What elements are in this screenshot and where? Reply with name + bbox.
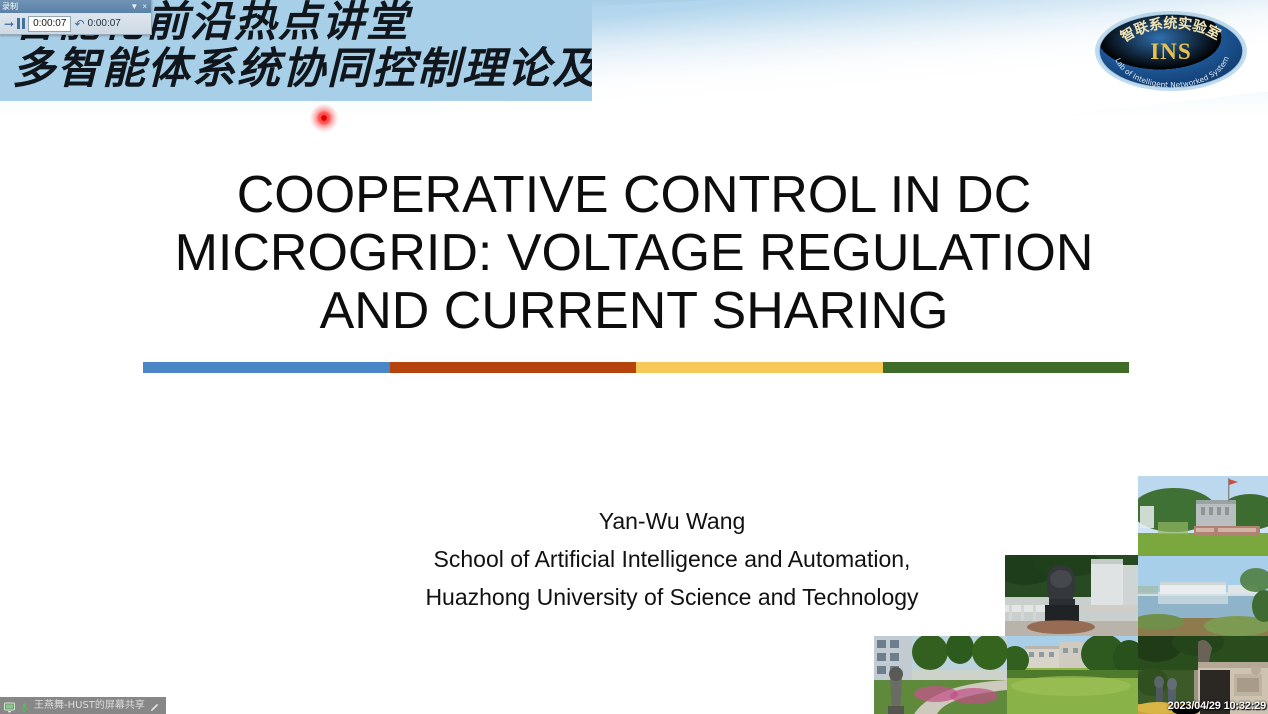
campus-lake-building-photo [1138,556,1268,636]
screen-share-status-pill[interactable]: 王燕舞-HUST的屏幕共享 [0,697,166,714]
laser-pointer-dot [310,104,338,132]
title-color-divider [143,362,1129,373]
slide-title-line-1: COOPERATIVE CONTROL IN DC [84,166,1184,224]
campus-bust-statue-photo [1005,555,1138,637]
campus-lawn-dormitory-photo [1007,636,1138,714]
campus-entrance-flagpole-photo [1138,476,1268,556]
screen-recording-toolbar[interactable]: 录制 ▼ × ➞ 0:00:07 ↶ 0:00:07 [0,0,152,35]
divider-segment-green [883,362,1130,373]
recording-toolbar-title: 录制 [2,0,128,13]
affiliation-line-2: Huazhong University of Science and Techn… [372,578,972,616]
banner-line-2: 多智能体系统协同控制理论及应用 [12,44,592,94]
pause-icon[interactable] [17,18,25,29]
author-block: Yan-Wu Wang School of Artificial Intelli… [372,502,972,616]
slide-title: COOPERATIVE CONTROL IN DC MICROGRID: VOL… [84,166,1184,340]
pencil-icon[interactable] [149,700,160,711]
total-time-label: 0:00:07 [88,18,121,30]
recording-timestamp: 2023/04/29 10:32:29 [1168,700,1266,712]
campus-garden-path-photo [874,636,1007,714]
microphone-icon[interactable] [19,700,30,711]
divider-segment-blue [143,362,390,373]
close-icon[interactable]: × [140,0,149,13]
recording-toolbar-titlebar: 录制 ▼ × [0,0,151,13]
undo-icon[interactable]: ↶ [74,18,84,30]
logo-center-text: INS [1150,39,1191,64]
divider-segment-orange [390,362,637,373]
divider-segment-yellow [636,362,883,373]
slide-title-line-3: AND CURRENT SHARING [84,282,1184,340]
ins-lab-logo: 智联系统实验室 INS Lab of Intelligent Networked… [1085,7,1257,95]
affiliation-line-1: School of Artificial Intelligence and Au… [372,540,972,578]
arrow-right-icon[interactable]: ➞ [4,18,14,30]
screen-share-label: 王燕舞-HUST的屏幕共享 [34,697,145,714]
elapsed-time-field[interactable]: 0:00:07 [28,16,71,32]
monitor-icon[interactable] [4,700,15,711]
chevron-down-icon[interactable]: ▼ [128,0,140,13]
author-name: Yan-Wu Wang [372,502,972,540]
recording-toolbar-controls: ➞ 0:00:07 ↶ 0:00:07 [0,13,151,34]
slide-title-line-2: MICROGRID: VOLTAGE REGULATION [84,224,1184,282]
